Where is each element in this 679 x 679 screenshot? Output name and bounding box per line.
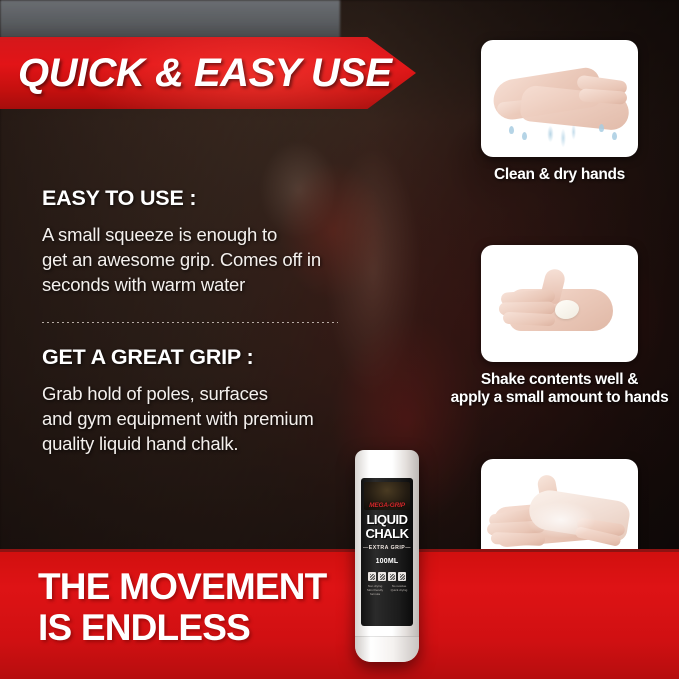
- chalk-film-overlay: [521, 499, 601, 541]
- feature-title: GET A GREAT GRIP :: [42, 345, 372, 370]
- background-top-strip: [0, 0, 340, 38]
- product-fineprint: Non drying Skin friendly formula No resi…: [365, 585, 409, 596]
- feature-block-easy-to-use: EASY TO USE : A small squeeze is enough …: [42, 186, 372, 298]
- step-item-clean-dry-hands: Clean & dry hands: [440, 40, 679, 184]
- step-caption-line: apply a small amount to hands: [440, 389, 679, 407]
- product-tagline: EXTRA GRIP: [363, 545, 411, 551]
- section-divider: [42, 322, 338, 323]
- step-caption: Shake contents well & apply a small amou…: [440, 371, 679, 407]
- certification-icon: [388, 572, 396, 581]
- fineprint-right: No residue Quick drying: [389, 585, 409, 596]
- certification-icon: [398, 572, 406, 581]
- feature-body-line: quality liquid hand chalk.: [42, 432, 372, 457]
- fineprint-left: Non drying Skin friendly formula: [365, 585, 385, 596]
- bottom-banner-title: THE MOVEMENT IS ENDLESS: [38, 566, 326, 649]
- water-drop-icon: [509, 126, 514, 134]
- product-infographic: QUICK & EASY USE EASY TO USE : A small s…: [0, 0, 679, 679]
- water-drop-icon: [612, 132, 617, 140]
- feature-list: EASY TO USE : A small squeeze is enough …: [42, 186, 372, 457]
- bottom-banner: THE MOVEMENT IS ENDLESS: [0, 549, 679, 679]
- step-photo-card: [481, 40, 638, 157]
- bottom-banner-line: THE MOVEMENT: [38, 566, 326, 607]
- certification-icon: [378, 572, 386, 581]
- feature-body: A small squeeze is enough to get an awes…: [42, 223, 372, 298]
- tube-cap: [355, 636, 419, 662]
- product-tube: MEGA-GRIP LIQUID CHALK EXTRA GRIP 100ML …: [355, 450, 419, 662]
- feature-body: Grab hold of poles, surfaces and gym equ…: [42, 382, 372, 457]
- top-banner: QUICK & EASY USE: [0, 37, 416, 109]
- product-name-line-1: LIQUID: [366, 513, 407, 526]
- banner-title: QUICK & EASY USE: [18, 51, 392, 96]
- feature-body-line: and gym equipment with premium: [42, 407, 372, 432]
- step-photo-card: [481, 245, 638, 362]
- brand-name: MEGA-GRIP: [369, 502, 405, 509]
- feature-body-line: seconds with warm water: [42, 273, 372, 298]
- product-pictogram-row: [368, 572, 406, 581]
- step-item-apply-chalk: Shake contents well & apply a small amou…: [440, 245, 679, 407]
- feature-body-line: A small squeeze is enough to: [42, 223, 372, 248]
- water-drop-icon: [522, 132, 527, 140]
- product-volume: 100ML: [376, 558, 399, 565]
- brand-logo-icon: MEGA-GRIP: [364, 482, 410, 510]
- feature-title: EASY TO USE :: [42, 186, 372, 211]
- water-stream-icon: [533, 114, 591, 154]
- product-label: MEGA-GRIP LIQUID CHALK EXTRA GRIP 100ML …: [361, 478, 413, 626]
- feature-block-great-grip: GET A GREAT GRIP : Grab hold of poles, s…: [42, 345, 372, 457]
- water-drop-icon: [599, 124, 604, 132]
- feature-body-line: get an awesome grip. Comes off in: [42, 248, 372, 273]
- step-caption: Clean & dry hands: [440, 166, 679, 184]
- bottom-banner-line: IS ENDLESS: [38, 607, 326, 648]
- feature-body-line: Grab hold of poles, surfaces: [42, 382, 372, 407]
- product-name-line-2: CHALK: [366, 527, 409, 540]
- certification-icon: [368, 572, 376, 581]
- step-caption-line: Shake contents well &: [440, 371, 679, 389]
- step-caption-line: Clean & dry hands: [440, 166, 679, 184]
